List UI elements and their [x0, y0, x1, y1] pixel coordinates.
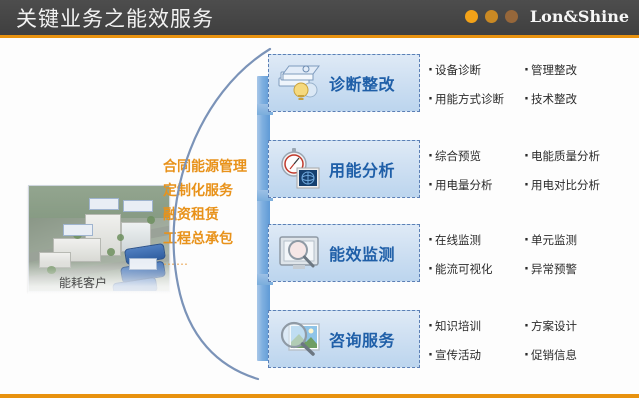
photo-tree	[107, 248, 115, 256]
bullet-3: 促销信息	[524, 348, 634, 363]
photo-tree	[117, 234, 124, 241]
brand-logo: Lon&Shine	[465, 7, 629, 26]
bullet-1: 方案设计	[524, 319, 634, 334]
logo-dot-2-icon	[485, 10, 498, 23]
bullet-3: 异常预警	[524, 262, 634, 277]
header-accent-rule	[0, 35, 639, 38]
photo-callout-label	[129, 258, 157, 270]
service-row-energy-analysis[interactable]: 用能分析 综合预览 电能质量分析 用电量分析 用电对比分析	[268, 140, 633, 212]
service-label-diagnosis: 诊断整改	[329, 71, 395, 95]
bullet-0: 综合预览	[428, 149, 524, 164]
bullet-2: 宣传活动	[428, 348, 524, 363]
bullet-0: 知识培训	[428, 319, 524, 334]
bullet-2: 能流可视化	[428, 262, 524, 277]
photo-building	[39, 252, 71, 268]
bullet-grid-efficiency-monitoring: 在线监测 单元监测 能流可视化 异常预警	[428, 226, 633, 284]
bullet-2: 用能方式诊断	[428, 92, 524, 107]
service-row-efficiency-monitoring[interactable]: 能效监测 在线监测 单元监测 能流可视化 异常预警	[268, 224, 633, 296]
photo-callout-label	[123, 200, 153, 212]
service-box-efficiency-monitoring[interactable]: 能效监测	[268, 224, 420, 282]
bullet-1: 电能质量分析	[524, 149, 634, 164]
photo-callout-label	[89, 198, 119, 210]
bullet-grid-consulting: 知识培训 方案设计 宣传活动 促销信息	[428, 312, 633, 370]
logo-dot-3-icon	[505, 10, 518, 23]
service-row-consulting[interactable]: 咨询服务 知识培训 方案设计 宣传活动 促销信息	[268, 310, 633, 382]
service-label-energy-analysis: 用能分析	[329, 157, 395, 181]
magnifier-photo-icon	[275, 316, 327, 362]
bullet-1: 管理整改	[524, 63, 634, 78]
bullet-0: 在线监测	[428, 233, 524, 248]
page-title: 关键业务之能效服务	[16, 3, 214, 33]
service-label-efficiency-monitoring: 能效监测	[329, 241, 395, 265]
logo-text-after: Shine	[578, 7, 629, 26]
service-box-energy-analysis[interactable]: 用能分析	[268, 140, 420, 198]
service-row-diagnosis[interactable]: 诊断整改 设备诊断 管理整改 用能方式诊断 技术整改	[268, 54, 633, 126]
gauge-chart-icon	[275, 146, 327, 192]
logo-text-before: Lon	[530, 7, 564, 26]
logo-dot-1-icon	[465, 10, 478, 23]
photo-tree	[47, 266, 56, 274]
photo-tree	[147, 216, 155, 224]
monitor-magnifier-icon	[275, 230, 327, 276]
slide-canvas: 关键业务之能效服务 Lon&Shine 能耗客户 合同能源管理 定制化服务 融资…	[0, 0, 639, 403]
bullet-2: 用电量分析	[428, 178, 524, 193]
photo-callout-label	[63, 224, 93, 236]
bullet-grid-energy-analysis: 综合预览 电能质量分析 用电量分析 用电对比分析	[428, 142, 633, 200]
service-box-diagnosis[interactable]: 诊断整改	[268, 54, 420, 112]
footer-margin	[0, 398, 639, 403]
logo-ampersand-icon: &	[563, 7, 577, 26]
documents-lightbulb-icon	[275, 60, 327, 106]
service-box-consulting[interactable]: 咨询服务	[268, 310, 420, 368]
bullet-0: 设备诊断	[428, 63, 524, 78]
photo-caption: 能耗客户	[59, 274, 107, 291]
bullet-grid-diagnosis: 设备诊断 管理整改 用能方式诊断 技术整改	[428, 56, 633, 114]
bullet-3: 用电对比分析	[524, 178, 634, 193]
bullet-1: 单元监测	[524, 233, 634, 248]
logo-wordmark: Lon&Shine	[530, 7, 629, 26]
bullet-3: 技术整改	[524, 92, 634, 107]
photo-blue-tank	[112, 277, 158, 292]
service-label-consulting: 咨询服务	[329, 327, 395, 351]
